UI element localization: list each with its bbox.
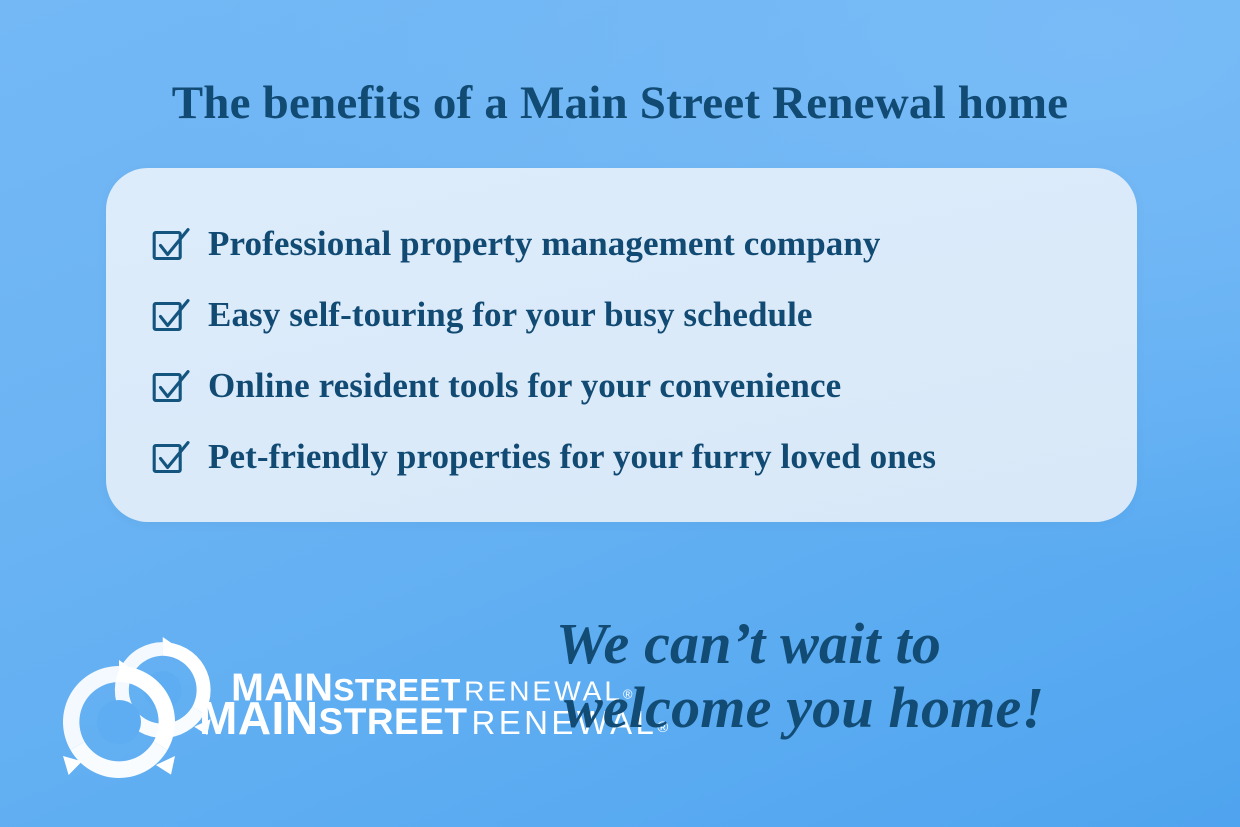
footer: MAINSTREET RENEWAL® xyxy=(0,560,1240,827)
promo-poster: The benefits of a Main Street Renewal ho… xyxy=(0,0,1240,827)
list-item: Pet-friendly properties for your furry l… xyxy=(152,421,1091,492)
benefit-label: Pet-friendly properties for your furry l… xyxy=(208,437,936,477)
tagline-line-2: welcome you home! xyxy=(556,676,1176,740)
wordmark-main-part: MAIN xyxy=(199,692,319,744)
list-item: Professional property management company xyxy=(152,208,1091,279)
wordmark-street-part: STREET xyxy=(319,701,468,742)
benefit-label: Professional property management company xyxy=(208,224,881,264)
checked-checkbox-icon xyxy=(152,227,190,261)
main-street-renewal-circular-swirl-icon xyxy=(55,658,183,786)
benefits-list: Professional property management company… xyxy=(152,208,1091,492)
tagline-line-1: We can’t wait to xyxy=(556,612,1176,676)
page-title: The benefits of a Main Street Renewal ho… xyxy=(0,74,1240,132)
tagline: We can’t wait to welcome you home! xyxy=(556,612,1176,740)
list-item: Online resident tools for your convenien… xyxy=(152,350,1091,421)
list-item: Easy self-touring for your busy schedule xyxy=(152,279,1091,350)
benefits-card: Professional property management company… xyxy=(106,168,1137,522)
benefit-label: Easy self-touring for your busy schedule xyxy=(208,295,813,335)
checked-checkbox-icon xyxy=(152,298,190,332)
wordmark-mainstreet: MAINSTREET xyxy=(199,692,468,744)
checked-checkbox-icon xyxy=(152,440,190,474)
checked-checkbox-icon xyxy=(152,369,190,403)
benefit-label: Online resident tools for your convenien… xyxy=(208,366,841,406)
